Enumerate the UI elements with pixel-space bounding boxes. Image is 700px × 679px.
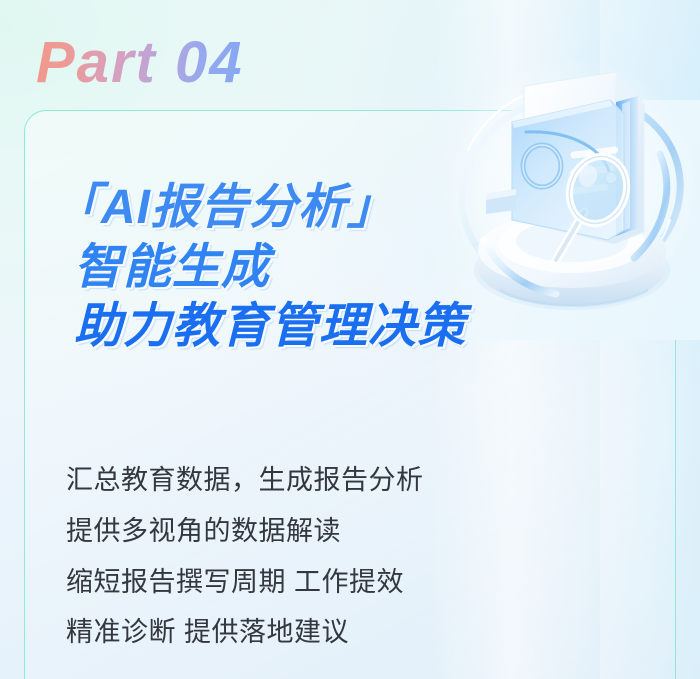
slide-canvas: Part 04 xyxy=(0,0,700,679)
section-kicker: Part 04 xyxy=(36,34,243,92)
body-line-4: 精准诊断 提供落地建议 xyxy=(66,607,626,658)
body-line-2: 提供多视角的数据解读 xyxy=(66,506,626,557)
headline-line-2: 智能生成 xyxy=(74,238,612,298)
body-line-3: 缩短报告撰写周期 工作提效 xyxy=(66,557,626,608)
headline-line-3: 助力教育管理决策 xyxy=(74,297,612,357)
headline-block: 「AI报告分析」 智能生成 助力教育管理决策 xyxy=(52,178,612,357)
headline-line-1: 「AI报告分析」 xyxy=(52,178,612,238)
body-copy-block: 汇总教育数据，生成报告分析 提供多视角的数据解读 缩短报告撰写周期 工作提效 精… xyxy=(66,455,626,658)
body-line-1: 汇总教育数据，生成报告分析 xyxy=(66,455,626,506)
